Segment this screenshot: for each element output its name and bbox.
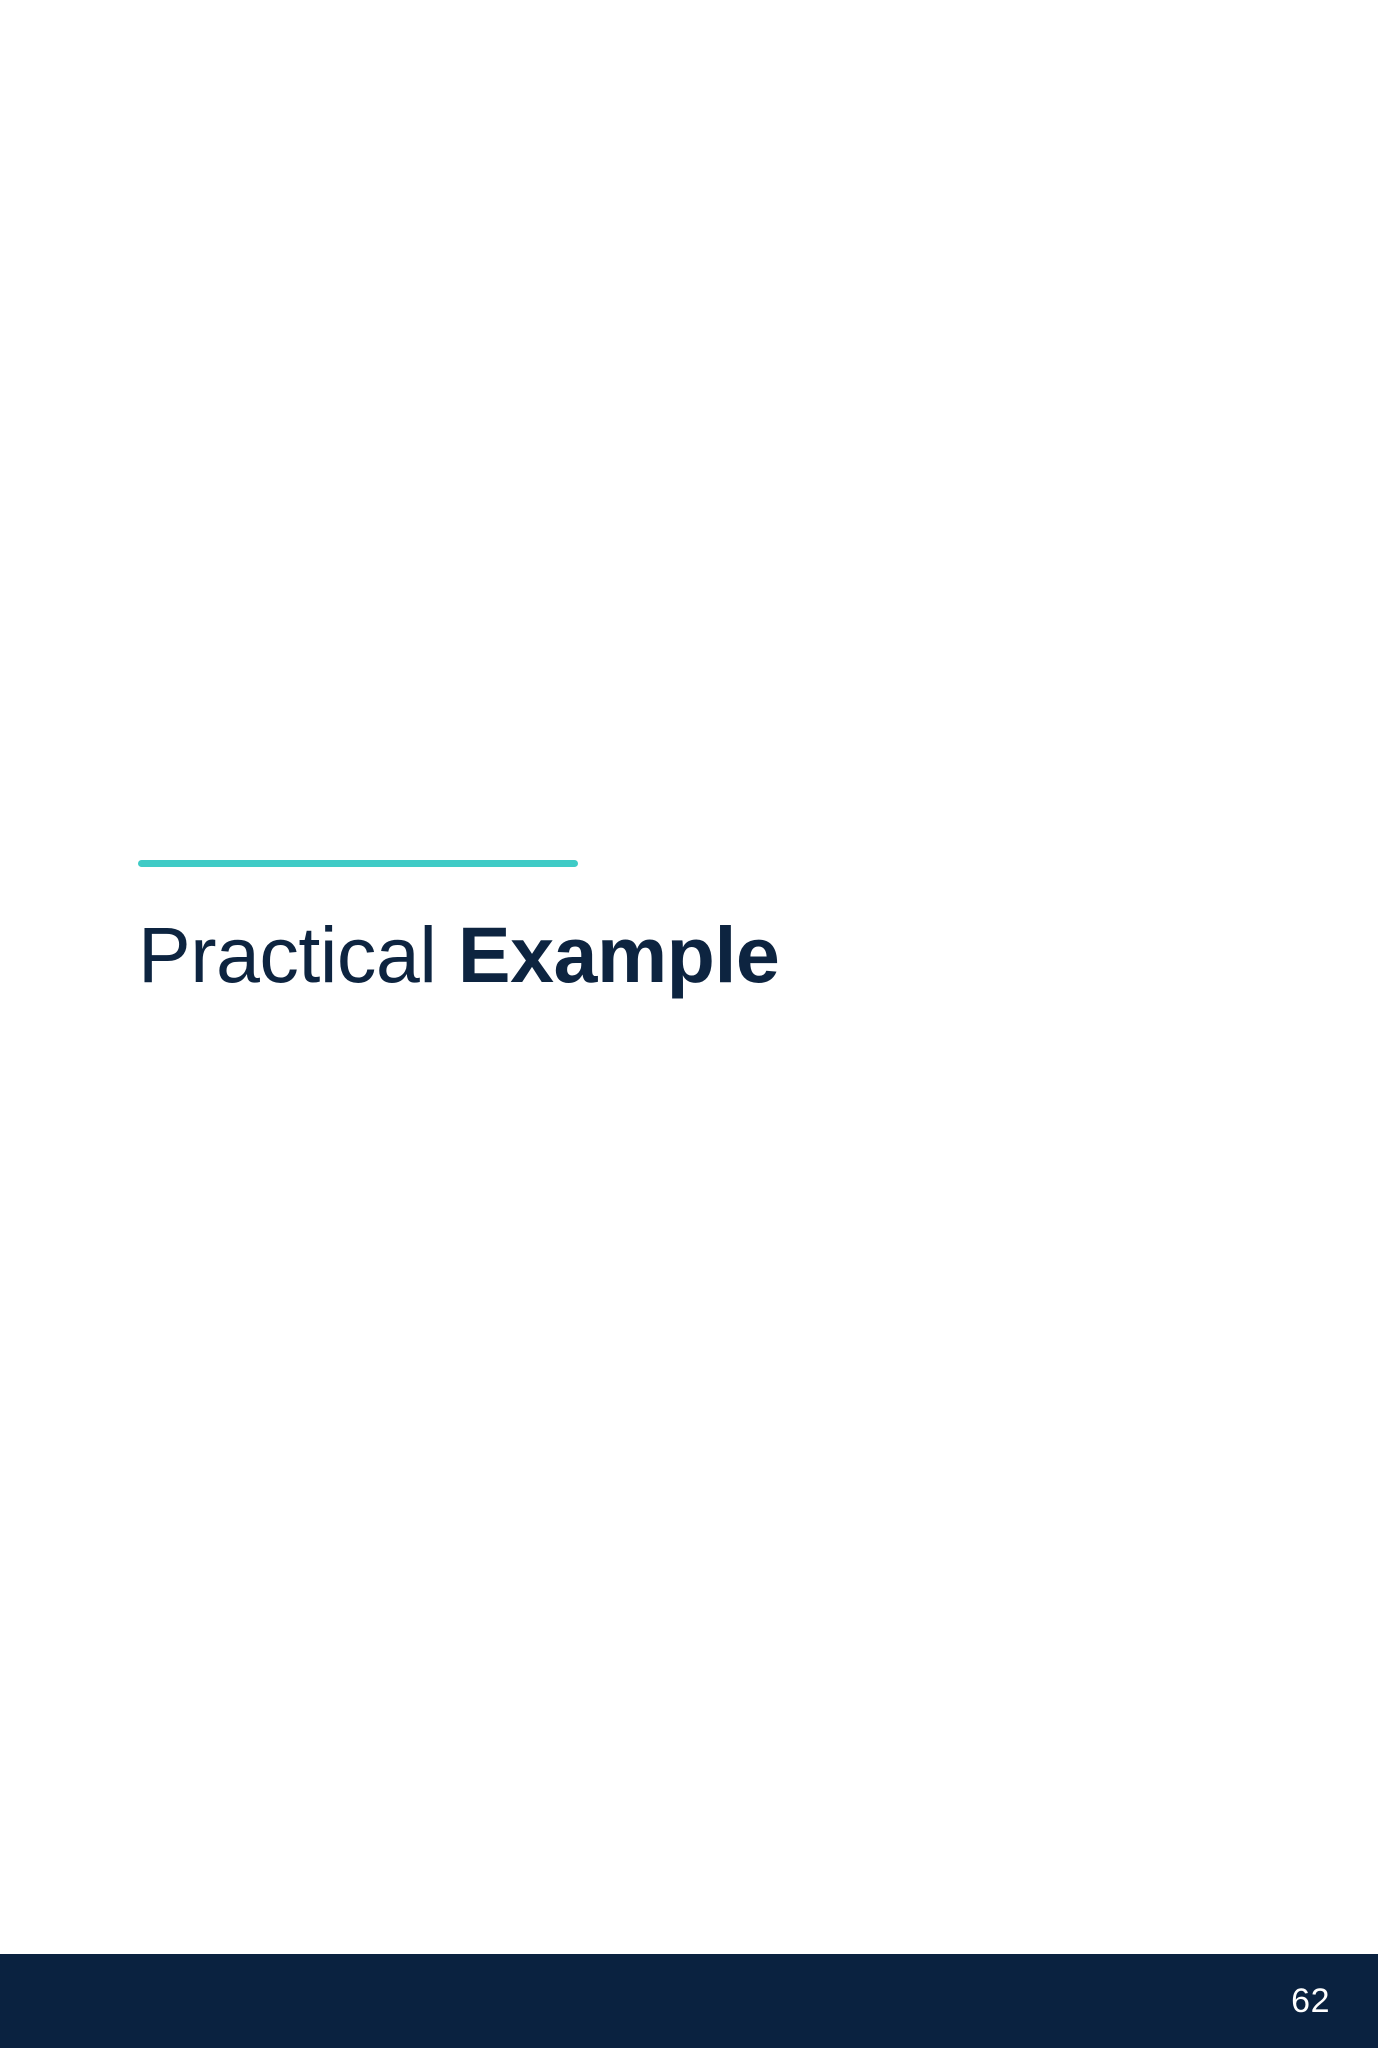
footer-bar: 62: [0, 1954, 1378, 2048]
page-title: Practical Example: [138, 915, 1238, 994]
page-title-bold-part: Example: [458, 910, 779, 999]
page-title-regular-part: Practical: [138, 910, 458, 999]
accent-rule-divider: [138, 860, 578, 867]
slide-page: Practical Example 62: [0, 0, 1378, 2048]
section-title-block: Practical Example: [138, 860, 1238, 994]
page-number: 62: [1291, 1984, 1330, 2018]
